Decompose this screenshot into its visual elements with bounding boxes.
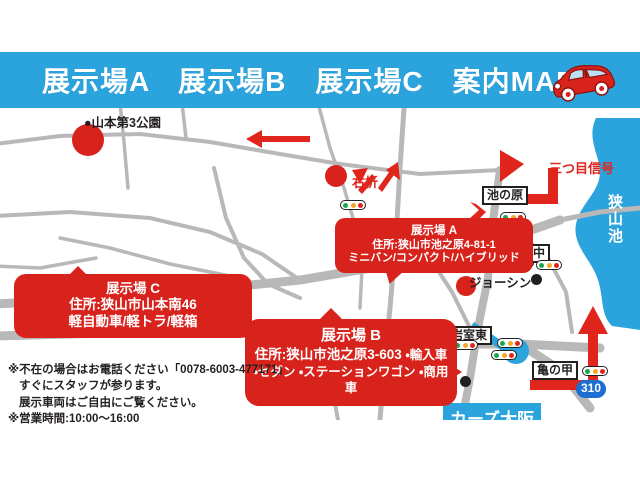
poi-dot-joshin xyxy=(531,274,542,285)
page-title: 展示場A 展示場B 展示場C 案内MAP xyxy=(42,60,576,100)
red-car-icon xyxy=(544,58,618,104)
traffic-signal-joshin xyxy=(536,260,562,270)
callout-b-address: 住所:狭山市池之原3-603 xyxy=(255,347,402,362)
traffic-signal-ukkai xyxy=(340,200,366,210)
footer-note: ※不在の場合はお電話ください「0078-6003-477171」 すぐにスタッフ… xyxy=(8,362,308,427)
callout-c-title: 展示場 C xyxy=(18,281,248,297)
callout-a-categories: ミニバン/コンパクト/ハイブリッド xyxy=(339,252,529,265)
intersection-kamenoko: 亀の甲 xyxy=(532,361,578,380)
callout-b-item-2: ・ステーションワゴン xyxy=(299,365,416,379)
footer-line-1: ※不在の場合はお電話ください「0078-6003-477171」 xyxy=(8,362,308,378)
traffic-signal-mid2 xyxy=(491,350,517,360)
callout-b-item-0: ・輸入車 xyxy=(405,348,447,362)
footer-line-4: ※営業時間:10:00〜16:00 xyxy=(8,411,308,427)
traffic-signal-iwamuro xyxy=(497,338,523,348)
poi-label-yamamoto-park: ●山本第3公園 xyxy=(84,112,161,131)
callout-c-address: 住所:狭山市山本南46 xyxy=(18,297,248,313)
map-flyer: 展示場A 展示場B 展示場C 案内MAP xyxy=(0,0,640,480)
dealer-label-cars-osaka: カーズ大阪 xyxy=(443,403,541,420)
callout-c-categories: 軽自動車/軽トラ/軽箱 xyxy=(18,314,248,330)
annotation-third-signal: 三つ目信号 xyxy=(549,158,614,177)
callout-a-title: 展示場 A xyxy=(339,224,529,238)
footer-line-3: 展示車両はご自由にご覧ください。 xyxy=(8,395,308,411)
intersection-ikenohara: 池の原 xyxy=(482,186,528,205)
callout-showroom-c: 展示場 C 住所:狭山市山本南46 軽自動車/軽トラ/軽箱 xyxy=(14,274,252,338)
callout-showroom-a: 展示場 A 住所:狭山市池之原4-81-1 ミニバン/コンパクト/ハイブリッド xyxy=(335,218,533,273)
traffic-signal-kamenoko xyxy=(582,366,608,376)
footer-line-2: すぐにスタッフが参ります。 xyxy=(8,378,308,394)
header-banner: 展示場A 展示場B 展示場C 案内MAP xyxy=(0,52,640,108)
route-shield-310: 310 xyxy=(576,380,606,398)
callout-a-address: 住所:狭山市池之原4-81-1 xyxy=(339,239,529,252)
poi-label-joshin: ジョーシン xyxy=(469,272,531,291)
callout-b-title: 展示場 B xyxy=(251,327,451,345)
annotation-turn-right: 右折 xyxy=(352,172,378,191)
site-marker-a xyxy=(325,165,347,187)
water-label-sayamaike: 狭山池 xyxy=(604,194,625,245)
